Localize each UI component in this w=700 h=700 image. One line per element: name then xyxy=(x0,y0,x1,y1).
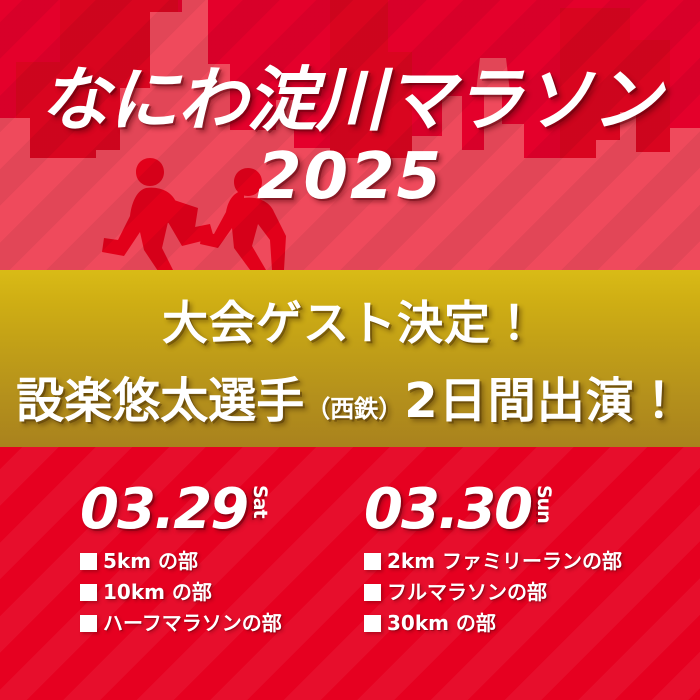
guest-detail-line: 設楽悠太選手 （西鉄） 2日間出演！ xyxy=(16,361,683,431)
schedule-day-1: 03.29 Sat 5km の部 10km の部 ハーフマラソンの部 xyxy=(0,447,350,700)
list-item: ハーフマラソンの部 xyxy=(80,613,350,633)
square-bullet-icon xyxy=(80,584,97,601)
marathon-event-poster: なにわ淀川マラソン 2025 大会ゲスト決定！ 設楽悠太選手 （西鉄） 2日間出… xyxy=(0,0,700,700)
event-label: フルマラソンの部 xyxy=(387,582,547,602)
title-block: なにわ淀川マラソン 2025 xyxy=(0,0,700,270)
guest-headline: 大会ゲスト決定！ xyxy=(162,287,538,353)
guest-name: 設楽悠太選手 xyxy=(16,361,304,431)
date-heading-day-2: 03.30 Sun xyxy=(364,483,700,539)
list-item: 2km ファミリーランの部 xyxy=(364,551,700,571)
event-label: 2km ファミリーランの部 xyxy=(387,551,622,571)
square-bullet-icon xyxy=(364,615,381,632)
list-item: 5km の部 xyxy=(80,551,350,571)
square-bullet-icon xyxy=(364,553,381,570)
event-label: ハーフマラソンの部 xyxy=(103,613,282,633)
schedule-section: 03.29 Sat 5km の部 10km の部 ハーフマラソンの部 xyxy=(0,447,700,700)
date-heading-day-1: 03.29 Sat xyxy=(80,483,350,539)
date-number-day-2: 03.30 xyxy=(364,483,531,538)
list-item: 10km の部 xyxy=(80,582,350,602)
event-year: 2025 xyxy=(257,145,443,209)
guest-appearance: 2日間出演！ xyxy=(404,361,683,431)
list-item: フルマラソンの部 xyxy=(364,582,700,602)
weekday-label-day-1: Sat xyxy=(250,485,269,518)
event-list-day-2: 2km ファミリーランの部 フルマラソンの部 30km の部 xyxy=(364,551,700,633)
square-bullet-icon xyxy=(80,553,97,570)
square-bullet-icon xyxy=(364,584,381,601)
event-list-day-1: 5km の部 10km の部 ハーフマラソンの部 xyxy=(80,551,350,633)
guest-affiliation: （西鉄） xyxy=(304,389,404,424)
list-item: 30km の部 xyxy=(364,613,700,633)
square-bullet-icon xyxy=(80,615,97,632)
event-label: 30km の部 xyxy=(387,613,496,633)
event-label: 10km の部 xyxy=(103,582,212,602)
schedule-day-2: 03.30 Sun 2km ファミリーランの部 フルマラソンの部 30km の部 xyxy=(350,447,700,700)
guest-announcement-banner: 大会ゲスト決定！ 設楽悠太選手 （西鉄） 2日間出演！ xyxy=(0,270,700,447)
weekday-label-day-2: Sun xyxy=(534,485,553,523)
date-number-day-1: 03.29 xyxy=(80,483,247,538)
event-label: 5km の部 xyxy=(103,551,198,571)
event-title: なにわ淀川マラソン xyxy=(40,65,661,135)
schedule-columns: 03.29 Sat 5km の部 10km の部 ハーフマラソンの部 xyxy=(0,447,700,700)
poster-header: なにわ淀川マラソン 2025 xyxy=(0,0,700,270)
